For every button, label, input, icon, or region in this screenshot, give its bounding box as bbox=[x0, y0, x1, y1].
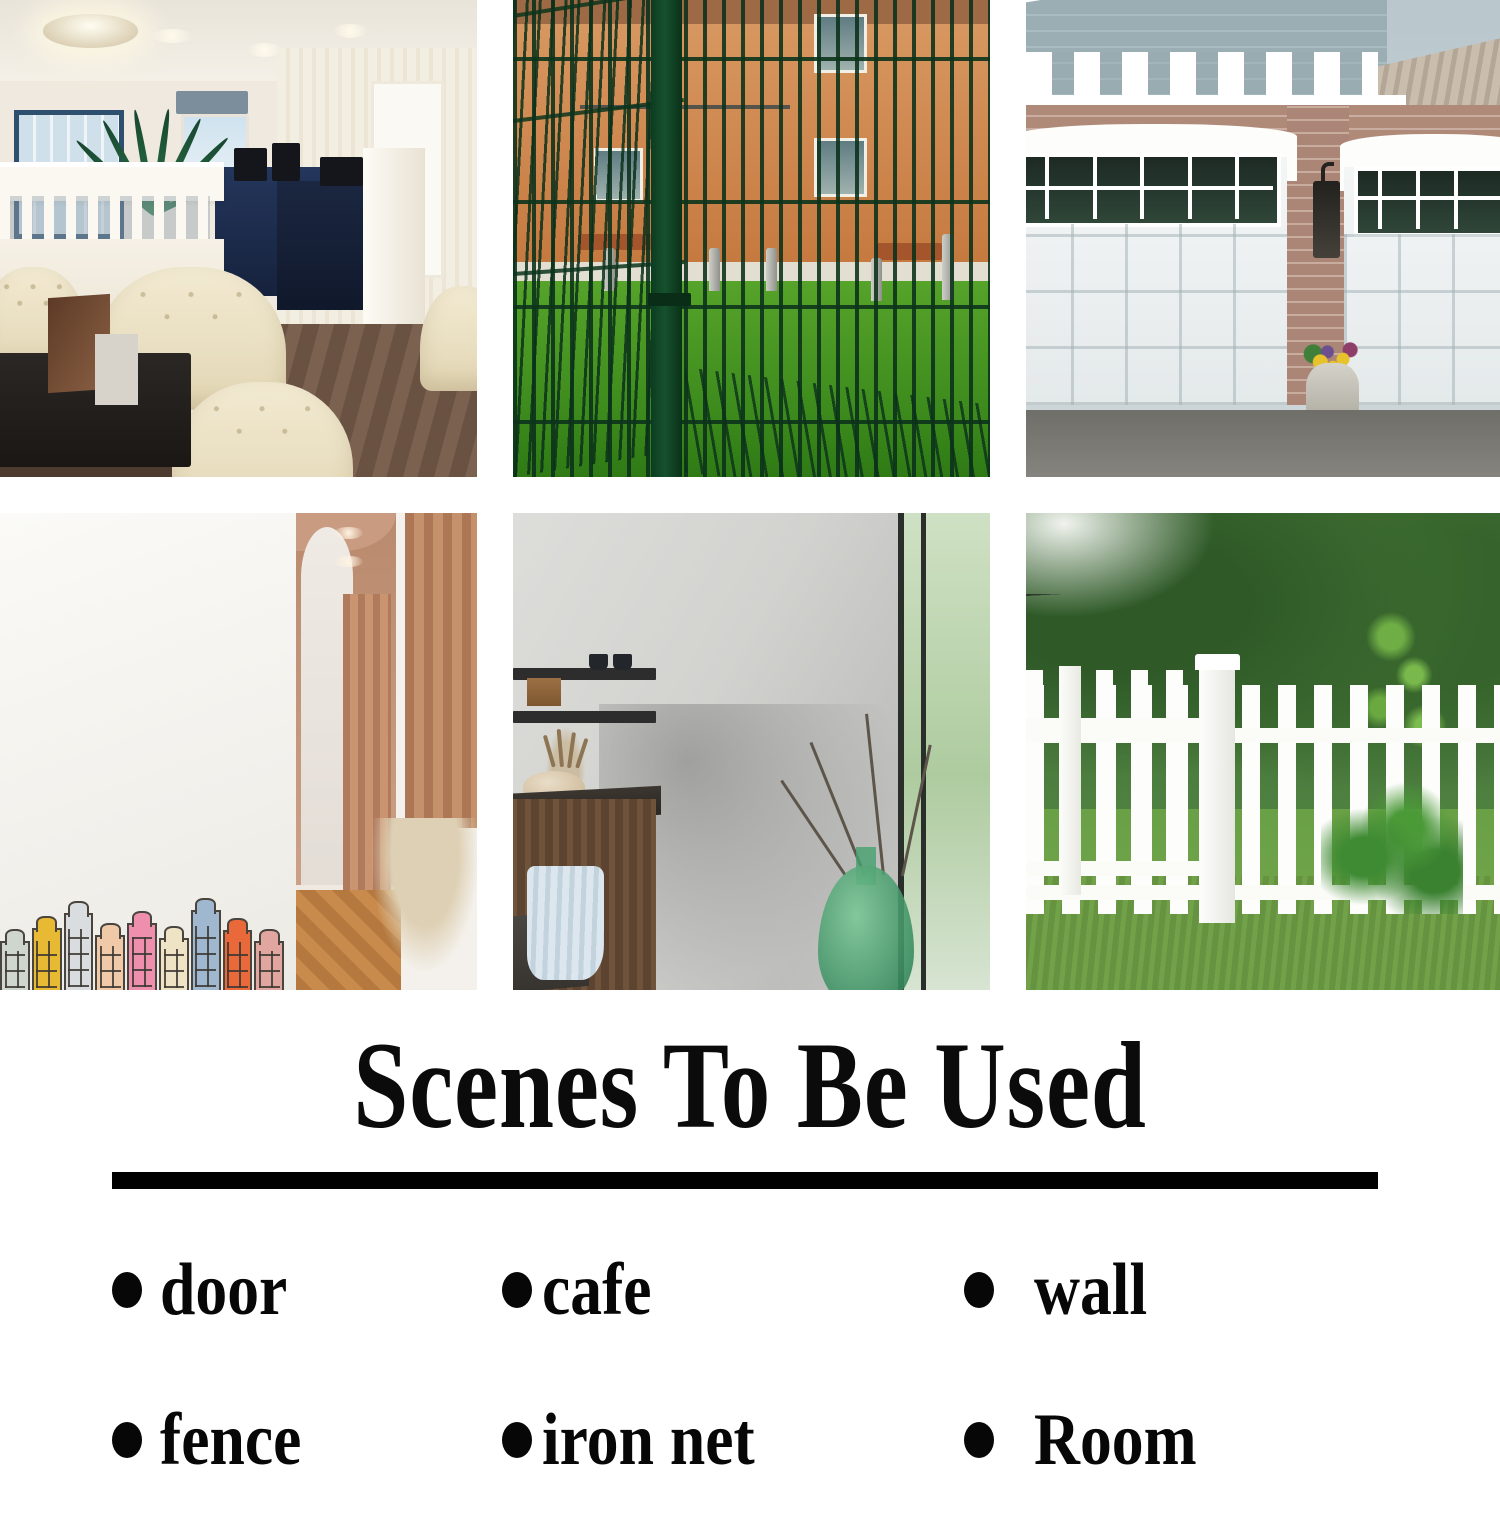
post-cap bbox=[1195, 654, 1240, 670]
list-item-door: door bbox=[0, 1215, 450, 1365]
wood-board bbox=[527, 678, 560, 707]
newel-pillar bbox=[363, 148, 425, 339]
decal-house bbox=[191, 910, 221, 990]
bullet-icon bbox=[112, 1272, 142, 1308]
photo-grey-room bbox=[513, 513, 990, 990]
title-divider bbox=[112, 1172, 1378, 1189]
climbing-vine bbox=[1321, 771, 1464, 914]
bowl bbox=[613, 654, 632, 670]
photo-grid bbox=[0, 0, 1500, 990]
photo-cafe-interior bbox=[0, 0, 477, 477]
downlight-icon bbox=[334, 527, 363, 538]
photo-wire-mesh-fence bbox=[513, 0, 990, 477]
list-item-iron-net: iron net bbox=[450, 1365, 930, 1515]
scene-list: door cafe wall fence iron net Room bbox=[0, 1215, 1500, 1515]
downlight-icon bbox=[334, 556, 363, 567]
scene-label: door bbox=[160, 1248, 287, 1333]
window-mullion bbox=[921, 513, 926, 990]
bullet-icon bbox=[964, 1272, 994, 1308]
townhouse-wall-decals bbox=[0, 909, 286, 990]
scene-label: fence bbox=[160, 1398, 301, 1483]
fence-post bbox=[1199, 661, 1235, 923]
monitor bbox=[320, 157, 363, 186]
monitor bbox=[272, 143, 301, 181]
dried-pampas-arrangement bbox=[363, 818, 477, 990]
photo-garage-doors bbox=[1026, 0, 1500, 477]
list-item-fence: fence bbox=[0, 1365, 450, 1515]
leaflet bbox=[95, 334, 138, 406]
bullet-icon bbox=[502, 1272, 532, 1308]
fence-post bbox=[651, 0, 682, 477]
decal-house bbox=[0, 941, 30, 990]
driveway bbox=[1026, 410, 1500, 477]
photo-picket-fence bbox=[1026, 513, 1500, 990]
door-panels bbox=[1026, 224, 1287, 405]
downlight-icon bbox=[153, 29, 191, 43]
bullet-icon bbox=[502, 1422, 532, 1458]
decal-house bbox=[254, 941, 284, 990]
scene-label: cafe bbox=[542, 1248, 652, 1333]
photo-wall-with-decals bbox=[0, 513, 477, 990]
tub-chair bbox=[172, 382, 353, 477]
curtain-panel bbox=[405, 513, 477, 828]
decal-house bbox=[64, 913, 94, 990]
bowl bbox=[589, 654, 608, 670]
list-item-cafe: cafe bbox=[450, 1215, 930, 1365]
chandelier-light bbox=[43, 14, 138, 47]
bullet-icon bbox=[964, 1422, 994, 1458]
linen-cloth bbox=[527, 866, 603, 980]
decal-house bbox=[223, 930, 253, 990]
bullet-icon bbox=[112, 1422, 142, 1458]
window-with-garden-view bbox=[898, 513, 990, 990]
monitor bbox=[234, 148, 267, 181]
decal-house bbox=[127, 923, 157, 990]
decal-house bbox=[159, 938, 189, 990]
balustrade-spindles bbox=[0, 196, 210, 244]
scene-label: wall bbox=[1034, 1248, 1147, 1333]
scene-label: iron net bbox=[542, 1398, 755, 1483]
product-infographic: Scenes To Be Used door cafe wall fence i… bbox=[0, 0, 1500, 1500]
post-clamp bbox=[648, 293, 691, 305]
list-item-wall: wall bbox=[930, 1215, 1500, 1365]
scene-label: Room bbox=[1034, 1398, 1197, 1483]
list-item-room: Room bbox=[930, 1365, 1500, 1515]
gate-post bbox=[1059, 666, 1081, 895]
lantern-sconce bbox=[1313, 181, 1339, 257]
page-title: Scenes To Be Used bbox=[150, 1024, 1350, 1148]
decal-house bbox=[95, 935, 125, 991]
decal-house bbox=[32, 928, 62, 990]
garage-door-window bbox=[1354, 167, 1500, 237]
fence-pickets-gate bbox=[1026, 670, 1207, 889]
